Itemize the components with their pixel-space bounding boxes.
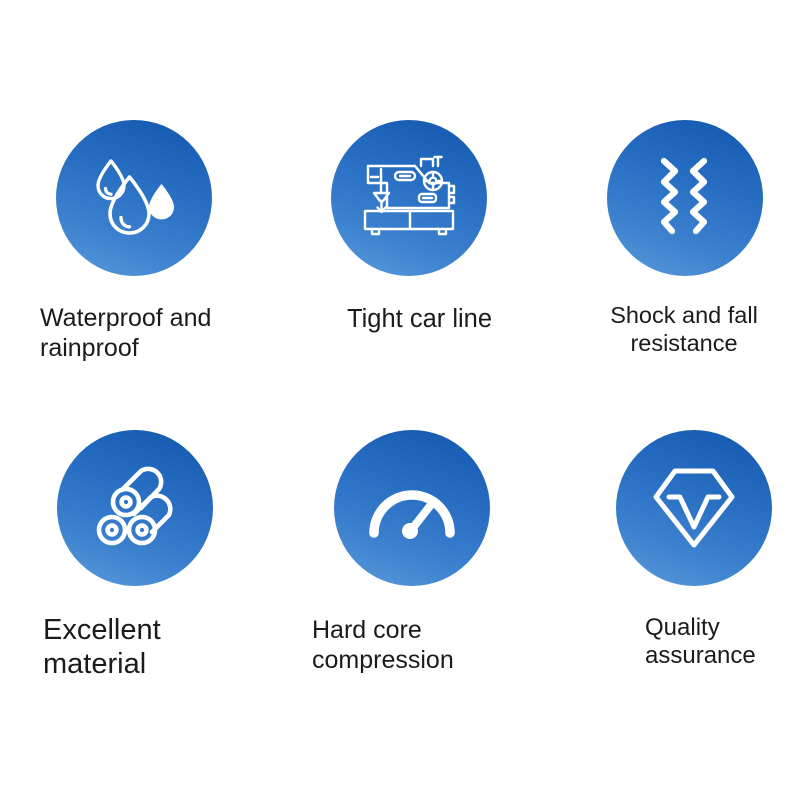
feature-label: Shock and fall resistance bbox=[552, 302, 800, 357]
diamond-icon bbox=[650, 465, 738, 551]
feature-item-waterproof: Waterproof and rainproof bbox=[1, 120, 267, 363]
feature-icon-badge bbox=[616, 430, 772, 586]
fabric-rolls-icon bbox=[89, 462, 181, 554]
vibration-zigzag-icon bbox=[654, 157, 716, 239]
feature-item-quality-assurance: Quality assurance bbox=[560, 430, 800, 671]
feature-label: Quality assurance bbox=[645, 614, 800, 671]
water-drops-icon bbox=[88, 155, 180, 241]
feature-item-hard-core-compression: Hard core compression bbox=[282, 430, 548, 675]
features-grid: Waterproof and rainproof bbox=[0, 0, 800, 800]
feature-label: Waterproof and rainproof bbox=[40, 304, 267, 363]
feature-item-tight-car-line: Tight car line bbox=[277, 120, 543, 334]
feature-item-shock-resistance: Shock and fall resistance bbox=[552, 120, 800, 357]
feature-icon-badge bbox=[57, 430, 213, 586]
feature-icon-badge bbox=[334, 430, 490, 586]
feature-icon-badge bbox=[331, 120, 487, 276]
feature-label: Tight car line bbox=[347, 304, 543, 334]
feature-icon-badge bbox=[607, 120, 763, 276]
feature-item-excellent-material: Excellent material bbox=[1, 430, 267, 681]
speedometer-gauge-icon bbox=[366, 475, 458, 541]
feature-icon-badge bbox=[56, 120, 212, 276]
feature-label: Excellent material bbox=[43, 613, 267, 681]
feature-label: Hard core compression bbox=[312, 616, 548, 675]
sewing-machine-icon bbox=[359, 153, 459, 243]
